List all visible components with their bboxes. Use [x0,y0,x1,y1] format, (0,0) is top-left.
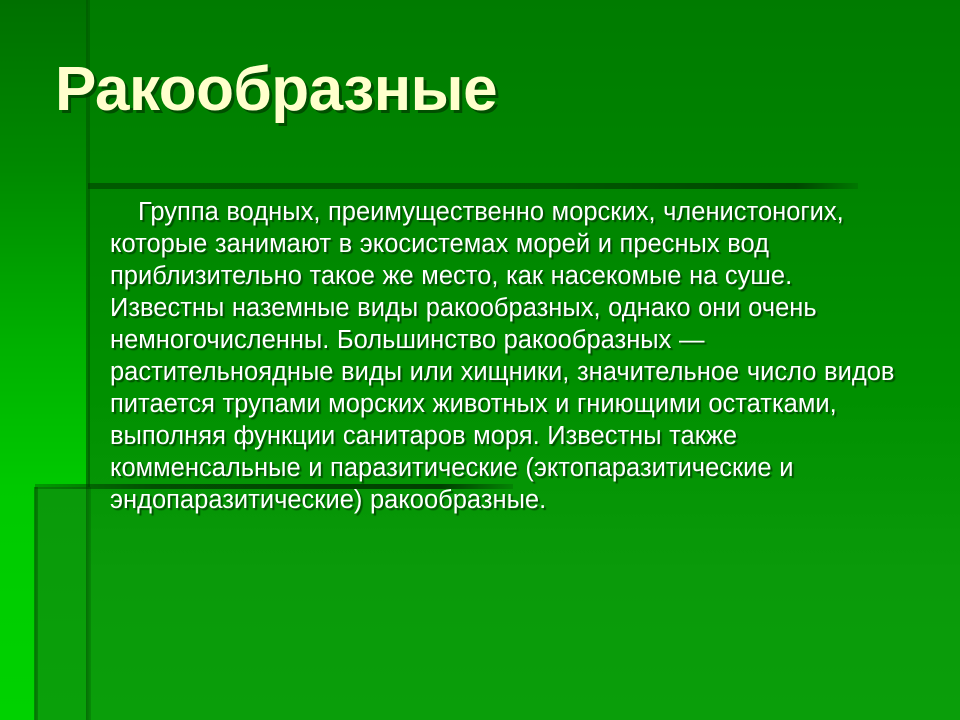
left-accent-band-lower [0,487,35,720]
lower-mid-panel [38,487,88,720]
content-box-top-rule [88,183,858,189]
slide-body-placeholder: Группа водных, преимущественно морских, … [110,196,900,516]
presentation-slide: Ракообразные Группа водных, преимуществе… [0,0,960,720]
slide-title: Ракообразные [55,57,915,122]
slide-body-text: Группа водных, преимущественно морских, … [110,196,900,516]
left-accent-band-lower-edge [34,487,38,720]
lower-mid-panel-edge [86,487,91,720]
